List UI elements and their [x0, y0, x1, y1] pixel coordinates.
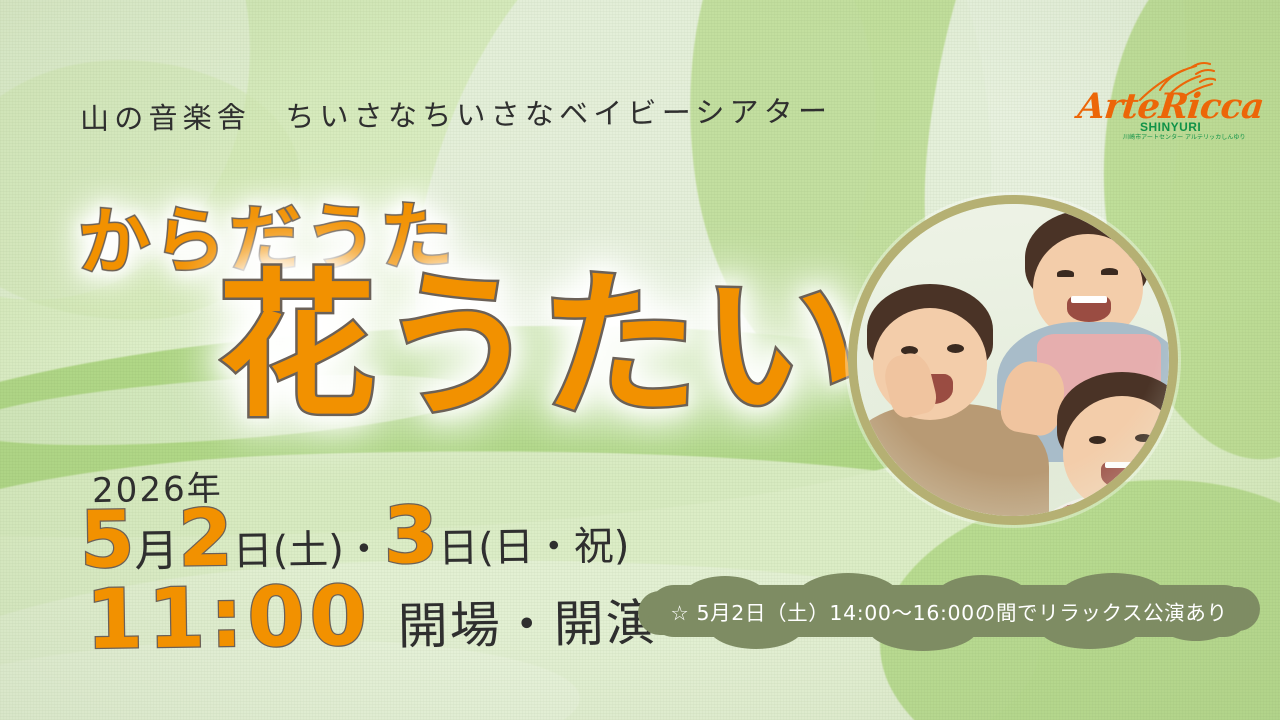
date-day2-number: 3	[383, 499, 438, 574]
logo-fineprint: 川崎市アートセンター アルテリッカしんゆり	[1123, 132, 1246, 141]
date-day2-weekday: (日・祝)	[478, 513, 630, 573]
date-day1-unit: 日	[232, 518, 273, 577]
date-month-number: 5	[79, 503, 134, 578]
poster-root: 山の音楽舎 ちいさなちいさなベイビーシアター ArteRicca SHINYUR…	[0, 0, 1280, 720]
banner-text: ☆ 5月2日（土）14:00〜16:00の間でリラックス公演あり	[648, 585, 1250, 637]
relax-performance-banner: ☆ 5月2日（土）14:00〜16:00の間でリラックス公演あり	[648, 585, 1250, 637]
main-title-hanautai: 花うたい	[218, 268, 863, 426]
arte-ricca-logo[interactable]: ArteRicca SHINYURI 川崎市アートセンター アルテリッカしんゆり	[1078, 62, 1218, 152]
header-series-title: 山の音楽舎 ちいさなちいさなベイビーシアター	[80, 88, 833, 138]
photo-inner	[857, 204, 1169, 516]
event-time: 11:00	[85, 578, 372, 660]
date-month-unit: 月	[134, 514, 179, 579]
date-day1-weekday: (土)	[272, 517, 344, 576]
event-date-line: 5 月 2 日 (土) ・ 3 日 (日・祝)	[79, 496, 629, 580]
date-day1-number: 2	[178, 502, 233, 577]
babies-photo	[848, 195, 1178, 525]
photo-edge-softener	[857, 204, 1169, 516]
event-time-label: 開場・開演	[397, 583, 658, 659]
event-time-line: 11:00 開場・開演	[85, 574, 658, 663]
date-day2-unit: 日	[438, 515, 479, 574]
date-separator: ・	[343, 517, 384, 576]
